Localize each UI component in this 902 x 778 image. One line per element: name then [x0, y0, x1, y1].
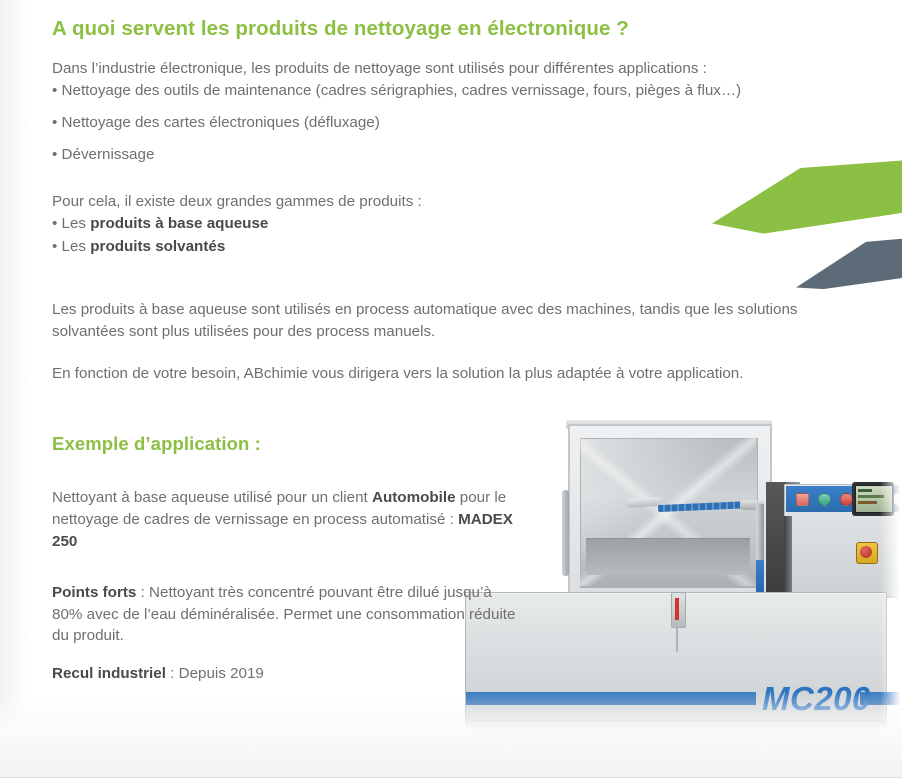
- example-column: Nettoyant à base aqueuse utilisé pour un…: [52, 455, 522, 684]
- example-description-block: Nettoyant à base aqueuse utilisé pour un…: [52, 455, 522, 552]
- strengths-label: Points forts: [52, 584, 136, 601]
- section-title-example: Exemple d’application :: [52, 385, 852, 455]
- bottom-green-accent-bar: [232, 746, 668, 766]
- track-record-text: : Depuis 2019: [166, 665, 264, 682]
- machine-front-seam: [465, 720, 885, 721]
- track-record-paragraph: Recul industriel : Depuis 2019: [52, 663, 522, 685]
- hmi-screen-content-c: [858, 501, 877, 504]
- example-description: Nettoyant à base aqueuse utilisé pour un…: [52, 487, 522, 552]
- track-record-block: Recul industriel : Depuis 2019: [52, 647, 522, 685]
- track-record-label: Recul industriel: [52, 665, 166, 682]
- machine-leg-right: [870, 752, 873, 778]
- applications-list: • Nettoyage des outils de maintenance (c…: [52, 80, 852, 176]
- range-prefix: • Les: [52, 215, 90, 232]
- ranges-lead-paragraph: Pour cela, il existe deux grandes gammes…: [52, 176, 852, 213]
- machine-blue-stripe-left: [466, 692, 756, 705]
- page-left-edge-shading: [0, 0, 30, 778]
- list-item: • Nettoyage des outils de maintenance (c…: [52, 80, 852, 112]
- intro-paragraph: Dans l’industrie électronique, les produ…: [52, 43, 852, 80]
- list-item: • Les produits solvantés: [52, 236, 852, 259]
- range-name: produits à base aqueuse: [90, 215, 268, 232]
- slide-content: A quoi servent les produits de nettoyage…: [52, 0, 852, 684]
- photo-right-fade: [880, 420, 902, 766]
- slide-canvas: MC200 A quoi servent les produits de net…: [0, 0, 902, 778]
- machine-model-logo: MC200: [762, 680, 871, 718]
- range-name: produits solvantés: [90, 238, 225, 255]
- example-client: Automobile: [372, 489, 456, 506]
- list-item: • Nettoyage des cartes électroniques (dé…: [52, 112, 852, 144]
- page-title: A quoi servent les produits de nettoyage…: [52, 0, 852, 43]
- emergency-stop-knob: [860, 546, 872, 558]
- usage-paragraph: Les produits à base aqueuse sont utilisé…: [52, 259, 852, 343]
- list-item: • Dévernissage: [52, 144, 852, 176]
- range-prefix: • Les: [52, 238, 90, 255]
- list-item: • Les produits à base aqueuse: [52, 213, 852, 236]
- example-text-before: Nettoyant à base aqueuse utilisé pour un…: [52, 489, 372, 506]
- product-ranges-list: • Les produits à base aqueuse • Les prod…: [52, 213, 852, 259]
- strengths-paragraph: Points forts : Nettoyant très concentré …: [52, 582, 522, 647]
- strengths-block: Points forts : Nettoyant très concentré …: [52, 552, 522, 647]
- hmi-screen-content-a: [858, 489, 872, 492]
- advice-paragraph: En fonction de votre besoin, ABchimie vo…: [52, 343, 852, 385]
